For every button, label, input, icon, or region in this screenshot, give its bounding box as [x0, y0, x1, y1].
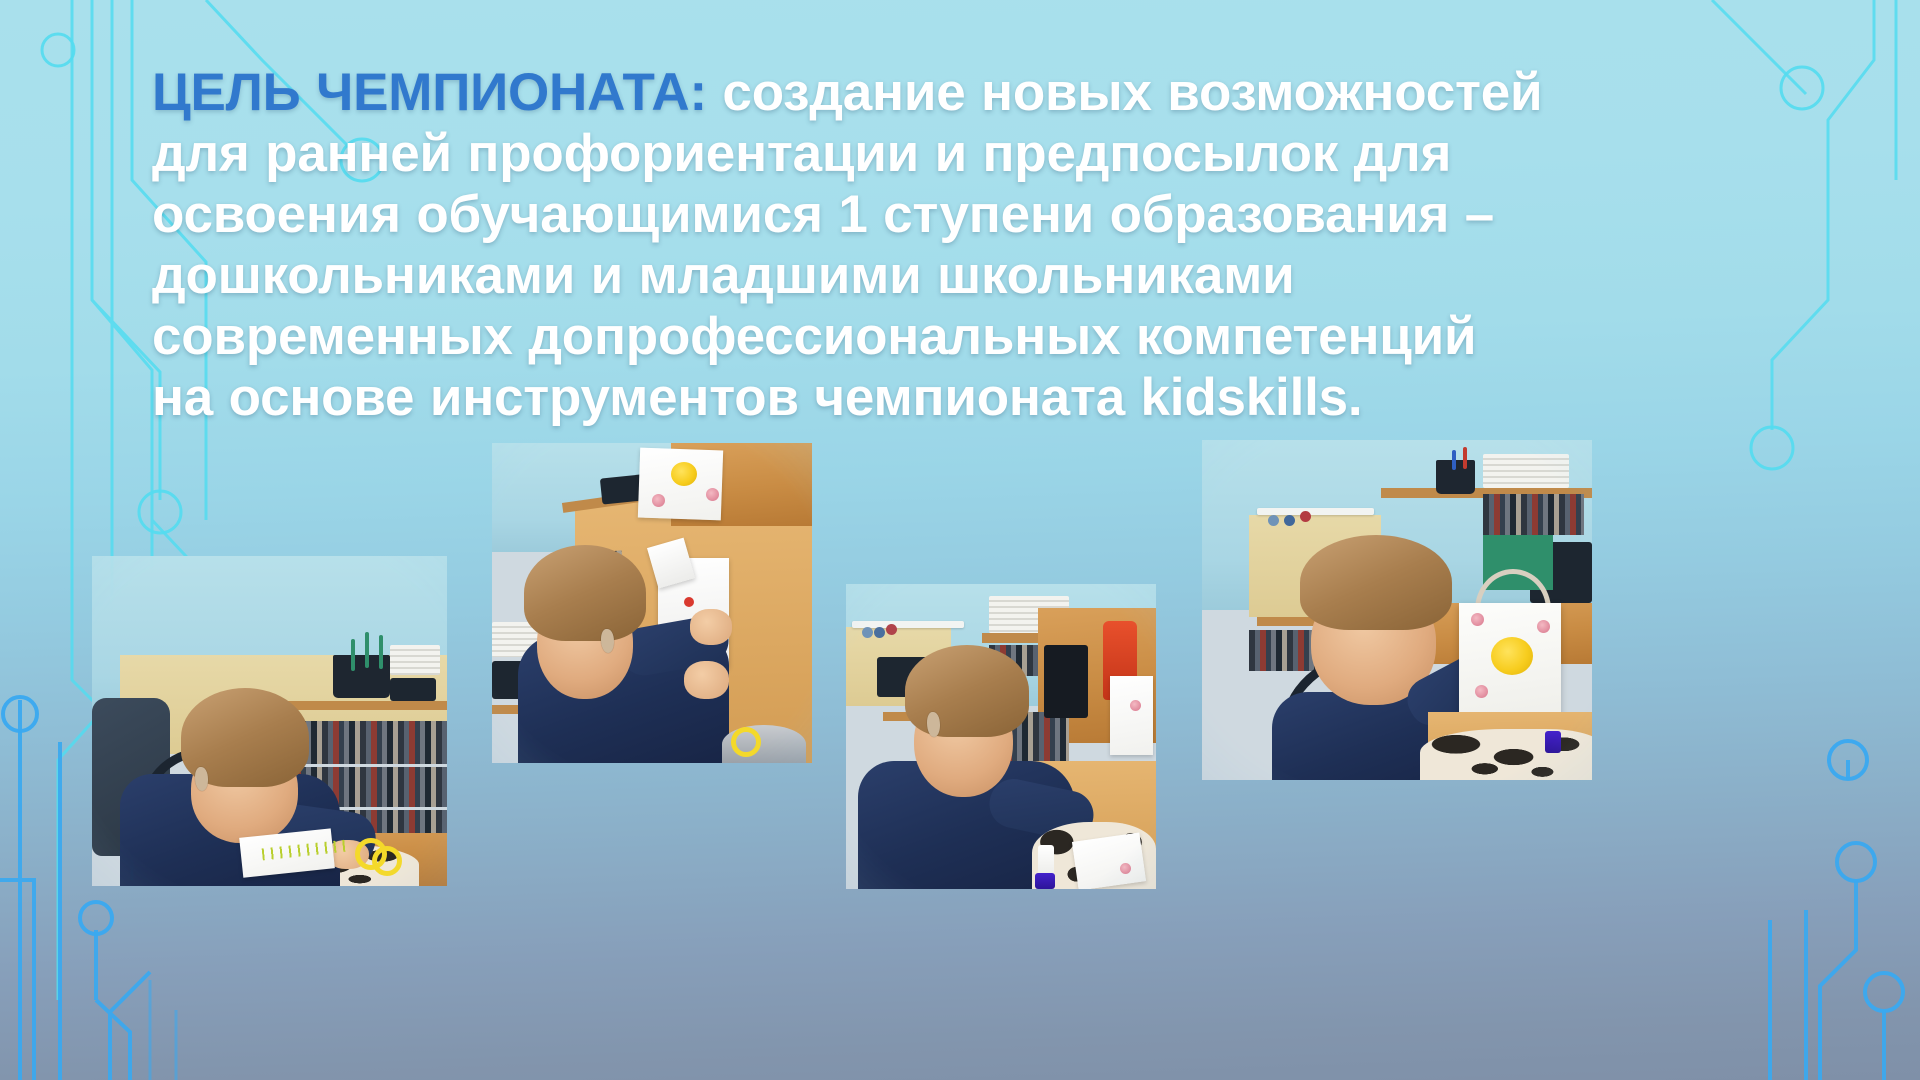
slide-title-block: ЦЕЛЬ ЧЕМПИОНАТА: создание новых возможно… [152, 62, 1552, 428]
photo-boy-measuring-with-ruler [92, 556, 447, 886]
page-title: ЦЕЛЬ ЧЕМПИОНАТА: создание новых возможно… [152, 62, 1552, 428]
photo-boy-applying-glue [846, 584, 1156, 889]
presentation-slide: ЦЕЛЬ ЧЕМПИОНАТА: создание новых возможно… [0, 0, 1920, 1080]
title-lead: ЦЕЛЬ ЧЕМПИОНАТА: [152, 63, 707, 122]
photo-boy-opening-supply-box [492, 443, 812, 763]
photo-boy-showing-finished-bag [1202, 440, 1592, 780]
